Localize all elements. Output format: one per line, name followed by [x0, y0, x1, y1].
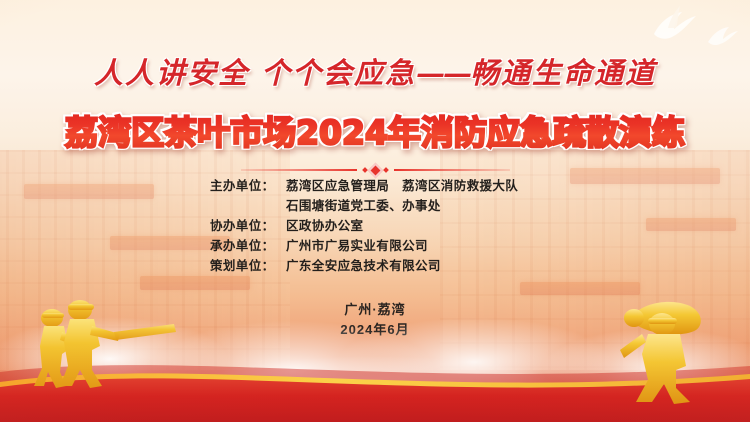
slogan-dash: ——: [416, 56, 470, 90]
firefighter-carrying-victim-icon: [590, 284, 720, 404]
slogan-part-1: 人人讲安全 个个会应急: [94, 56, 416, 90]
organizer-block: 主办单位： 荔湾区应急管理局 荔湾区消防救援大队 主办单位： 石围塘街道党工委、…: [0, 176, 750, 276]
divider-rule-left: [241, 169, 357, 171]
organizer-row: 协办单位： 区政协办公室: [210, 216, 540, 236]
organizer-value: 广东全安应急技术有限公司: [286, 256, 540, 276]
poster-slogan: 人人讲安全 个个会应急——畅通生命通道: [0, 50, 750, 92]
organizer-row: 承办单位： 广州市广易实业有限公司: [210, 236, 540, 256]
organizer-value: 区政协办公室: [286, 216, 540, 236]
organizer-value: 石围塘街道党工委、办事处: [286, 196, 540, 216]
organizer-value: 广州市广易实业有限公司: [286, 236, 540, 256]
organizer-label: 主办单位：: [210, 176, 286, 196]
divider-rule-right: [394, 169, 510, 171]
poster-canvas: 人人讲安全 个个会应急——畅通生命通道 荔湾区茶叶市场2024年消防应急疏散演练…: [0, 0, 750, 422]
organizer-value: 荔湾区应急管理局 荔湾区消防救援大队: [286, 176, 540, 196]
organizer-row: 主办单位： 石围塘街道党工委、办事处: [210, 196, 540, 216]
ornament-dot: [383, 167, 389, 173]
organizer-label: 协办单位：: [210, 216, 286, 236]
dove-icon: [700, 22, 740, 50]
slogan-part-2: 畅通生命通道: [470, 56, 656, 90]
organizer-row: 策划单位： 广东全安应急技术有限公司: [210, 256, 540, 276]
organizer-label: 承办单位：: [210, 236, 286, 256]
poster-title: 荔湾区茶叶市场2024年消防应急疏散演练: [0, 106, 750, 154]
organizer-row: 主办单位： 荔湾区应急管理局 荔湾区消防救援大队: [210, 176, 540, 196]
firefighter-with-hose-icon: [18, 288, 178, 396]
dove-icon: [640, 4, 700, 46]
organizer-label: 策划单位：: [210, 256, 286, 276]
diamond-ornament-icon: [363, 165, 388, 176]
